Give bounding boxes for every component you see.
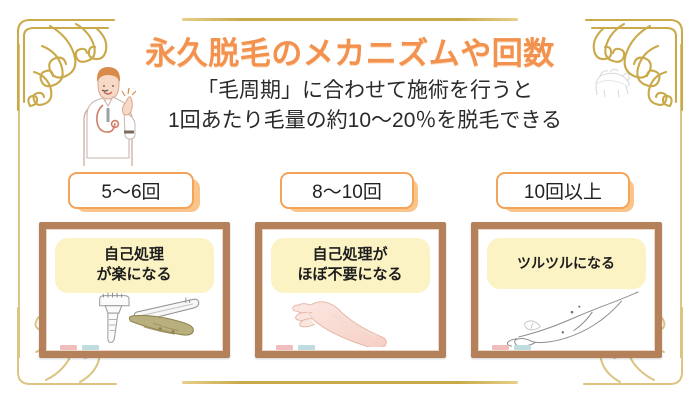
session-count-badge-1[interactable]: 5〜6回 bbox=[68, 172, 194, 209]
card-label-3-line1: ツルツルになる bbox=[491, 253, 642, 273]
card-swatches-2 bbox=[276, 345, 315, 350]
card-label-2-line1: 自己処理が bbox=[275, 245, 426, 265]
right-rail bbox=[680, 44, 682, 358]
animal-mark-icon bbox=[590, 62, 636, 98]
smooth-legs-icon bbox=[484, 285, 649, 347]
razor-and-shaver-icon bbox=[52, 285, 217, 347]
subtitle: 「毛周期」に合わせて施術を行うと 1回あたり毛量の約10〜20％を脱毛できる bbox=[150, 76, 580, 137]
top-divider-rule bbox=[182, 18, 518, 21]
swatch-pink bbox=[492, 345, 509, 350]
smooth-arm-icon bbox=[268, 285, 433, 347]
subtitle-line-2: 1回あたり毛量の約10〜20％を脱毛できる bbox=[166, 106, 564, 137]
infographic-canvas: 永久脱毛のメカニズムや回数 「毛周期」に合わせて施術を行うと 1回あたり毛量の約… bbox=[0, 0, 700, 400]
column-1: 5〜6回 自己処理 が楽になる bbox=[36, 172, 232, 358]
column-3: 10回以上 ツルツルになる bbox=[468, 172, 664, 358]
card-label-1-line2: が楽になる bbox=[59, 265, 210, 285]
badge-wrap-2: 8〜10回 bbox=[280, 172, 420, 212]
session-count-badge-2[interactable]: 8〜10回 bbox=[280, 172, 414, 209]
columns-container: 5〜6回 自己処理 が楽になる bbox=[36, 172, 664, 358]
subtitle-line-1: 「毛周期」に合わせて施術を行うと bbox=[150, 76, 580, 106]
result-card-1: 自己処理 が楽になる bbox=[39, 222, 230, 358]
bottom-divider-rule bbox=[182, 381, 518, 384]
card-swatches-1 bbox=[60, 345, 99, 350]
card-label-1-line1: 自己処理 bbox=[59, 245, 210, 265]
card-label-2-line2: ほぼ不要になる bbox=[275, 265, 426, 285]
swatch-blue bbox=[298, 345, 315, 350]
doctor-pointing-icon bbox=[62, 58, 154, 168]
result-card-2: 自己処理が ほぼ不要になる bbox=[255, 222, 446, 358]
badge-wrap-3: 10回以上 bbox=[496, 172, 636, 212]
swatch-pink bbox=[276, 345, 293, 350]
swatch-pink bbox=[60, 345, 77, 350]
card-label-3: ツルツルになる bbox=[487, 238, 646, 289]
result-card-3: ツルツルになる bbox=[471, 222, 662, 358]
card-swatches-3 bbox=[492, 345, 531, 350]
session-count-badge-3[interactable]: 10回以上 bbox=[496, 172, 630, 209]
left-rail bbox=[18, 44, 20, 358]
column-2: 8〜10回 自己処理が ほぼ不要になる bbox=[252, 172, 448, 358]
badge-wrap-1: 5〜6回 bbox=[68, 172, 200, 212]
swatch-blue bbox=[82, 345, 99, 350]
swatch-blue bbox=[514, 345, 531, 350]
